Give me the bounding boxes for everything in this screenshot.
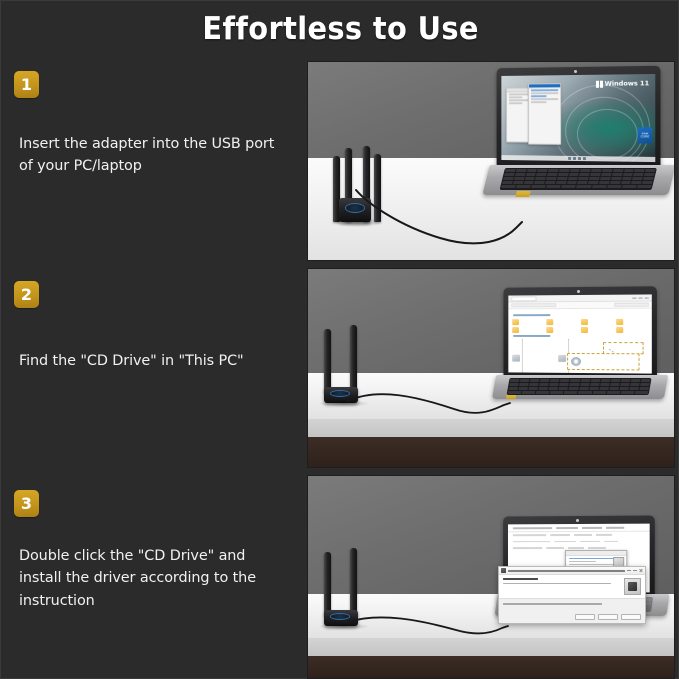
- webcam-icon: [574, 70, 577, 73]
- usb-plug: [515, 191, 530, 197]
- folder-icon: [616, 326, 623, 332]
- step-badge-3: 3: [14, 490, 39, 517]
- windows-logo-icon: [596, 80, 603, 87]
- key-row: [510, 379, 651, 382]
- dialog-header: [499, 575, 645, 599]
- folder-icon: [546, 319, 553, 325]
- search-input[interactable]: [614, 303, 649, 307]
- step-badge-2: 2: [14, 281, 39, 308]
- window-line: [509, 103, 522, 105]
- drive-item-local-disk-c[interactable]: [512, 339, 553, 374]
- key-row: [503, 177, 654, 180]
- section-label-devices-and-drives: [513, 334, 550, 336]
- folder-icon: [512, 319, 519, 325]
- dialog-body-line: [503, 603, 602, 605]
- window-controls[interactable]: [627, 569, 643, 573]
- back-button[interactable]: [575, 614, 595, 620]
- taskbar-icon[interactable]: [577, 157, 580, 160]
- taskbar[interactable]: [501, 155, 655, 162]
- dialog-heading-block: [503, 578, 620, 584]
- dialog-line: [569, 560, 596, 562]
- step-block-1: 1 Insert the adapter into the USB port o…: [1, 61, 303, 266]
- infographic-root: Effortless to Use 1 Insert the adapter i…: [0, 0, 679, 679]
- laptop-lid: [503, 286, 656, 377]
- taskbar-icon[interactable]: [568, 157, 571, 160]
- folder-icon: [616, 318, 623, 324]
- install-button[interactable]: [598, 614, 618, 620]
- window-controls[interactable]: [632, 297, 648, 298]
- dialog-titlebar: [566, 551, 626, 556]
- window-titlebar: [529, 84, 560, 88]
- setup-wizard-artwork: [624, 578, 641, 595]
- wallpaper-swirl-3: [577, 109, 638, 160]
- desk-base: [308, 656, 674, 679]
- folder-item[interactable]: [512, 319, 542, 325]
- folder-item[interactable]: [581, 318, 612, 324]
- windows-11-label: Windows 11: [605, 79, 649, 88]
- laptop: [494, 287, 670, 409]
- close-icon[interactable]: [639, 569, 643, 573]
- key-row: [509, 383, 650, 386]
- folder-item[interactable]: [616, 318, 648, 324]
- dialog-subheading: [503, 583, 611, 585]
- desktop-window-front[interactable]: [528, 83, 561, 145]
- desk-base: [308, 437, 674, 468]
- file-explorer-window[interactable]: [508, 294, 651, 373]
- folder-item[interactable]: [546, 319, 577, 325]
- step-badge-1: 1: [14, 71, 39, 98]
- intel-core-sticker: intel CORE: [638, 127, 652, 143]
- photo-panel-step-3: [307, 475, 675, 679]
- photo-panel-step-1: Windows 11 intel CORE: [307, 61, 675, 261]
- step-text-3: Double click the "CD Drive" and install …: [19, 545, 291, 612]
- windows-11-badge: Windows 11: [596, 79, 649, 88]
- step-block-2: 2 Find the "CD Drive" in "This PC": [1, 268, 303, 473]
- step-block-3: 3 Double click the "CD Drive" and instal…: [1, 475, 303, 679]
- cd-drive-icon: [571, 357, 581, 366]
- usb-plug: [506, 395, 517, 399]
- dialog-body: [499, 599, 645, 611]
- core-label: CORE: [641, 135, 650, 139]
- key-row: [508, 387, 649, 390]
- key-row: [502, 181, 653, 184]
- window-line: [531, 101, 547, 103]
- dialog-title-text: [508, 570, 625, 572]
- folder-item[interactable]: [616, 326, 648, 332]
- laptop-lid: Windows 11 intel CORE: [497, 66, 661, 169]
- key-row: [504, 173, 655, 176]
- section-label-folders: [513, 314, 550, 316]
- hard-drive-icon: [558, 355, 566, 362]
- laptop-base: [492, 375, 668, 399]
- dialog-titlebar: [499, 567, 645, 575]
- step-text-1: Insert the adapter into the USB port of …: [19, 133, 291, 178]
- taskbar-icon[interactable]: [573, 157, 576, 160]
- folder-icon: [581, 326, 588, 332]
- title-bar: Effortless to Use: [1, 1, 679, 57]
- webcam-icon: [576, 519, 579, 522]
- dialog-heading: [503, 578, 538, 580]
- explorer-tab-this-pc[interactable]: [511, 296, 536, 301]
- drive-meta: [522, 339, 523, 374]
- dialog-button-row[interactable]: [499, 614, 645, 620]
- setup-installer-dialog[interactable]: [498, 566, 646, 624]
- laptop-base: [482, 165, 675, 195]
- key-row: [501, 185, 652, 188]
- drive-usage-bar: [522, 340, 523, 374]
- folders-grid: [512, 318, 648, 332]
- laptop-keyboard: [507, 378, 652, 395]
- hard-drive-icon: [512, 355, 520, 362]
- window-line: [509, 97, 522, 99]
- step-text-2: Find the "CD Drive" in "This PC": [19, 350, 291, 372]
- minimize-icon: [627, 570, 631, 571]
- laptop-keyboard: [500, 168, 657, 190]
- window-line: [531, 98, 558, 100]
- key-row: [505, 169, 656, 172]
- laptop-screen: Windows 11 intel CORE: [501, 74, 655, 162]
- cd-drive-callout-tooltip: [567, 353, 639, 371]
- folder-icon: [512, 327, 519, 333]
- webcam-icon: [577, 290, 580, 293]
- folder-icon: [581, 318, 588, 324]
- photo-panel-step-2: [307, 268, 675, 468]
- window-line: [531, 90, 558, 92]
- window-line: [531, 93, 558, 95]
- window-line: [531, 96, 547, 98]
- laptop: Windows 11 intel CORE: [486, 67, 675, 229]
- breadcrumb[interactable]: [511, 303, 556, 307]
- folder-item[interactable]: [581, 326, 612, 332]
- laptop-screen: [508, 294, 651, 373]
- setup-app-icon: [501, 568, 506, 573]
- folder-icon: [546, 327, 553, 333]
- cancel-button[interactable]: [621, 614, 641, 620]
- taskbar-icon[interactable]: [582, 157, 585, 160]
- maximize-icon: [633, 570, 637, 571]
- key-row: [508, 391, 649, 394]
- folder-item[interactable]: [546, 327, 577, 333]
- page-title: Effortless to Use: [202, 11, 478, 47]
- folder-item[interactable]: [512, 327, 542, 333]
